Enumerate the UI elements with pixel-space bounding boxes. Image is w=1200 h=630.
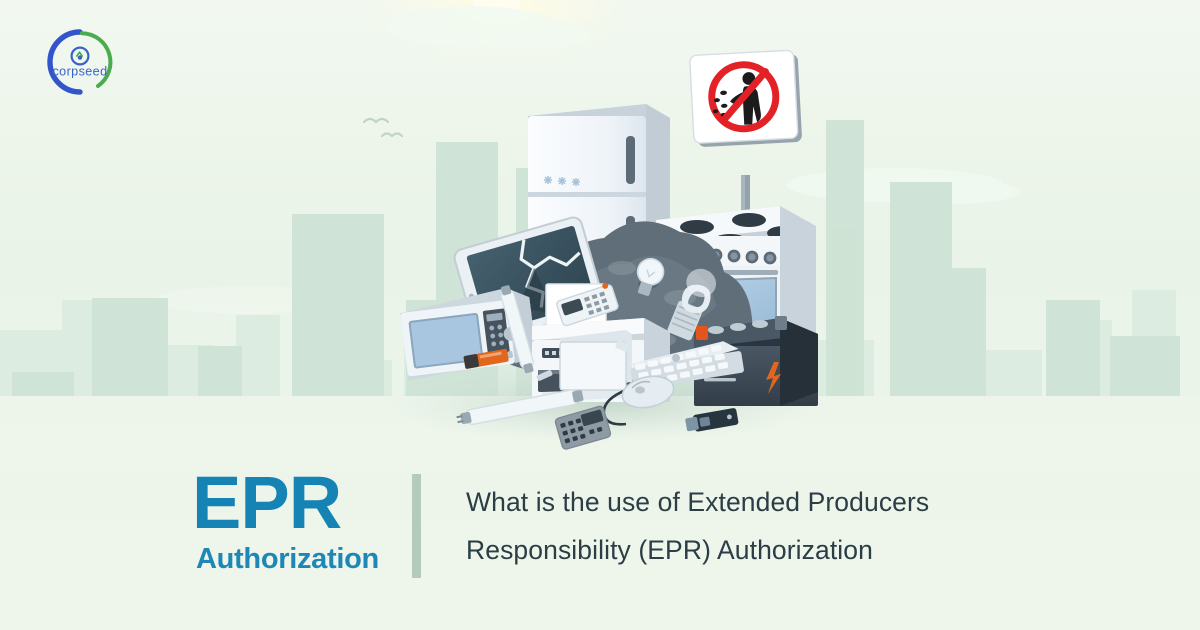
headline-line-1: What is the use of Extended Producers [466, 478, 1026, 526]
laptop [560, 330, 632, 390]
fridge-handle-upper [626, 136, 635, 184]
headline-text: What is the use of Extended Producers Re… [466, 478, 1026, 574]
corpseed-logo[interactable]: corpseed [38, 26, 122, 98]
vertical-divider [412, 474, 421, 578]
e-waste-pile-illustration [360, 40, 840, 460]
battery-terminal [775, 316, 787, 330]
banner-text-band: EPR Authorization What is the use of Ext… [0, 452, 1200, 630]
epr-title-block: EPR Authorization [192, 466, 392, 576]
headline-line-2: Responsibility (EPR) Authorization [466, 526, 1026, 574]
epr-authorization-banner: corpseed [0, 0, 1200, 630]
page-title: EPR [192, 466, 392, 540]
logo-wordmark: corpseed [52, 65, 107, 79]
page-subtitle: Authorization [196, 542, 392, 576]
battery-terminal-red [696, 326, 708, 340]
